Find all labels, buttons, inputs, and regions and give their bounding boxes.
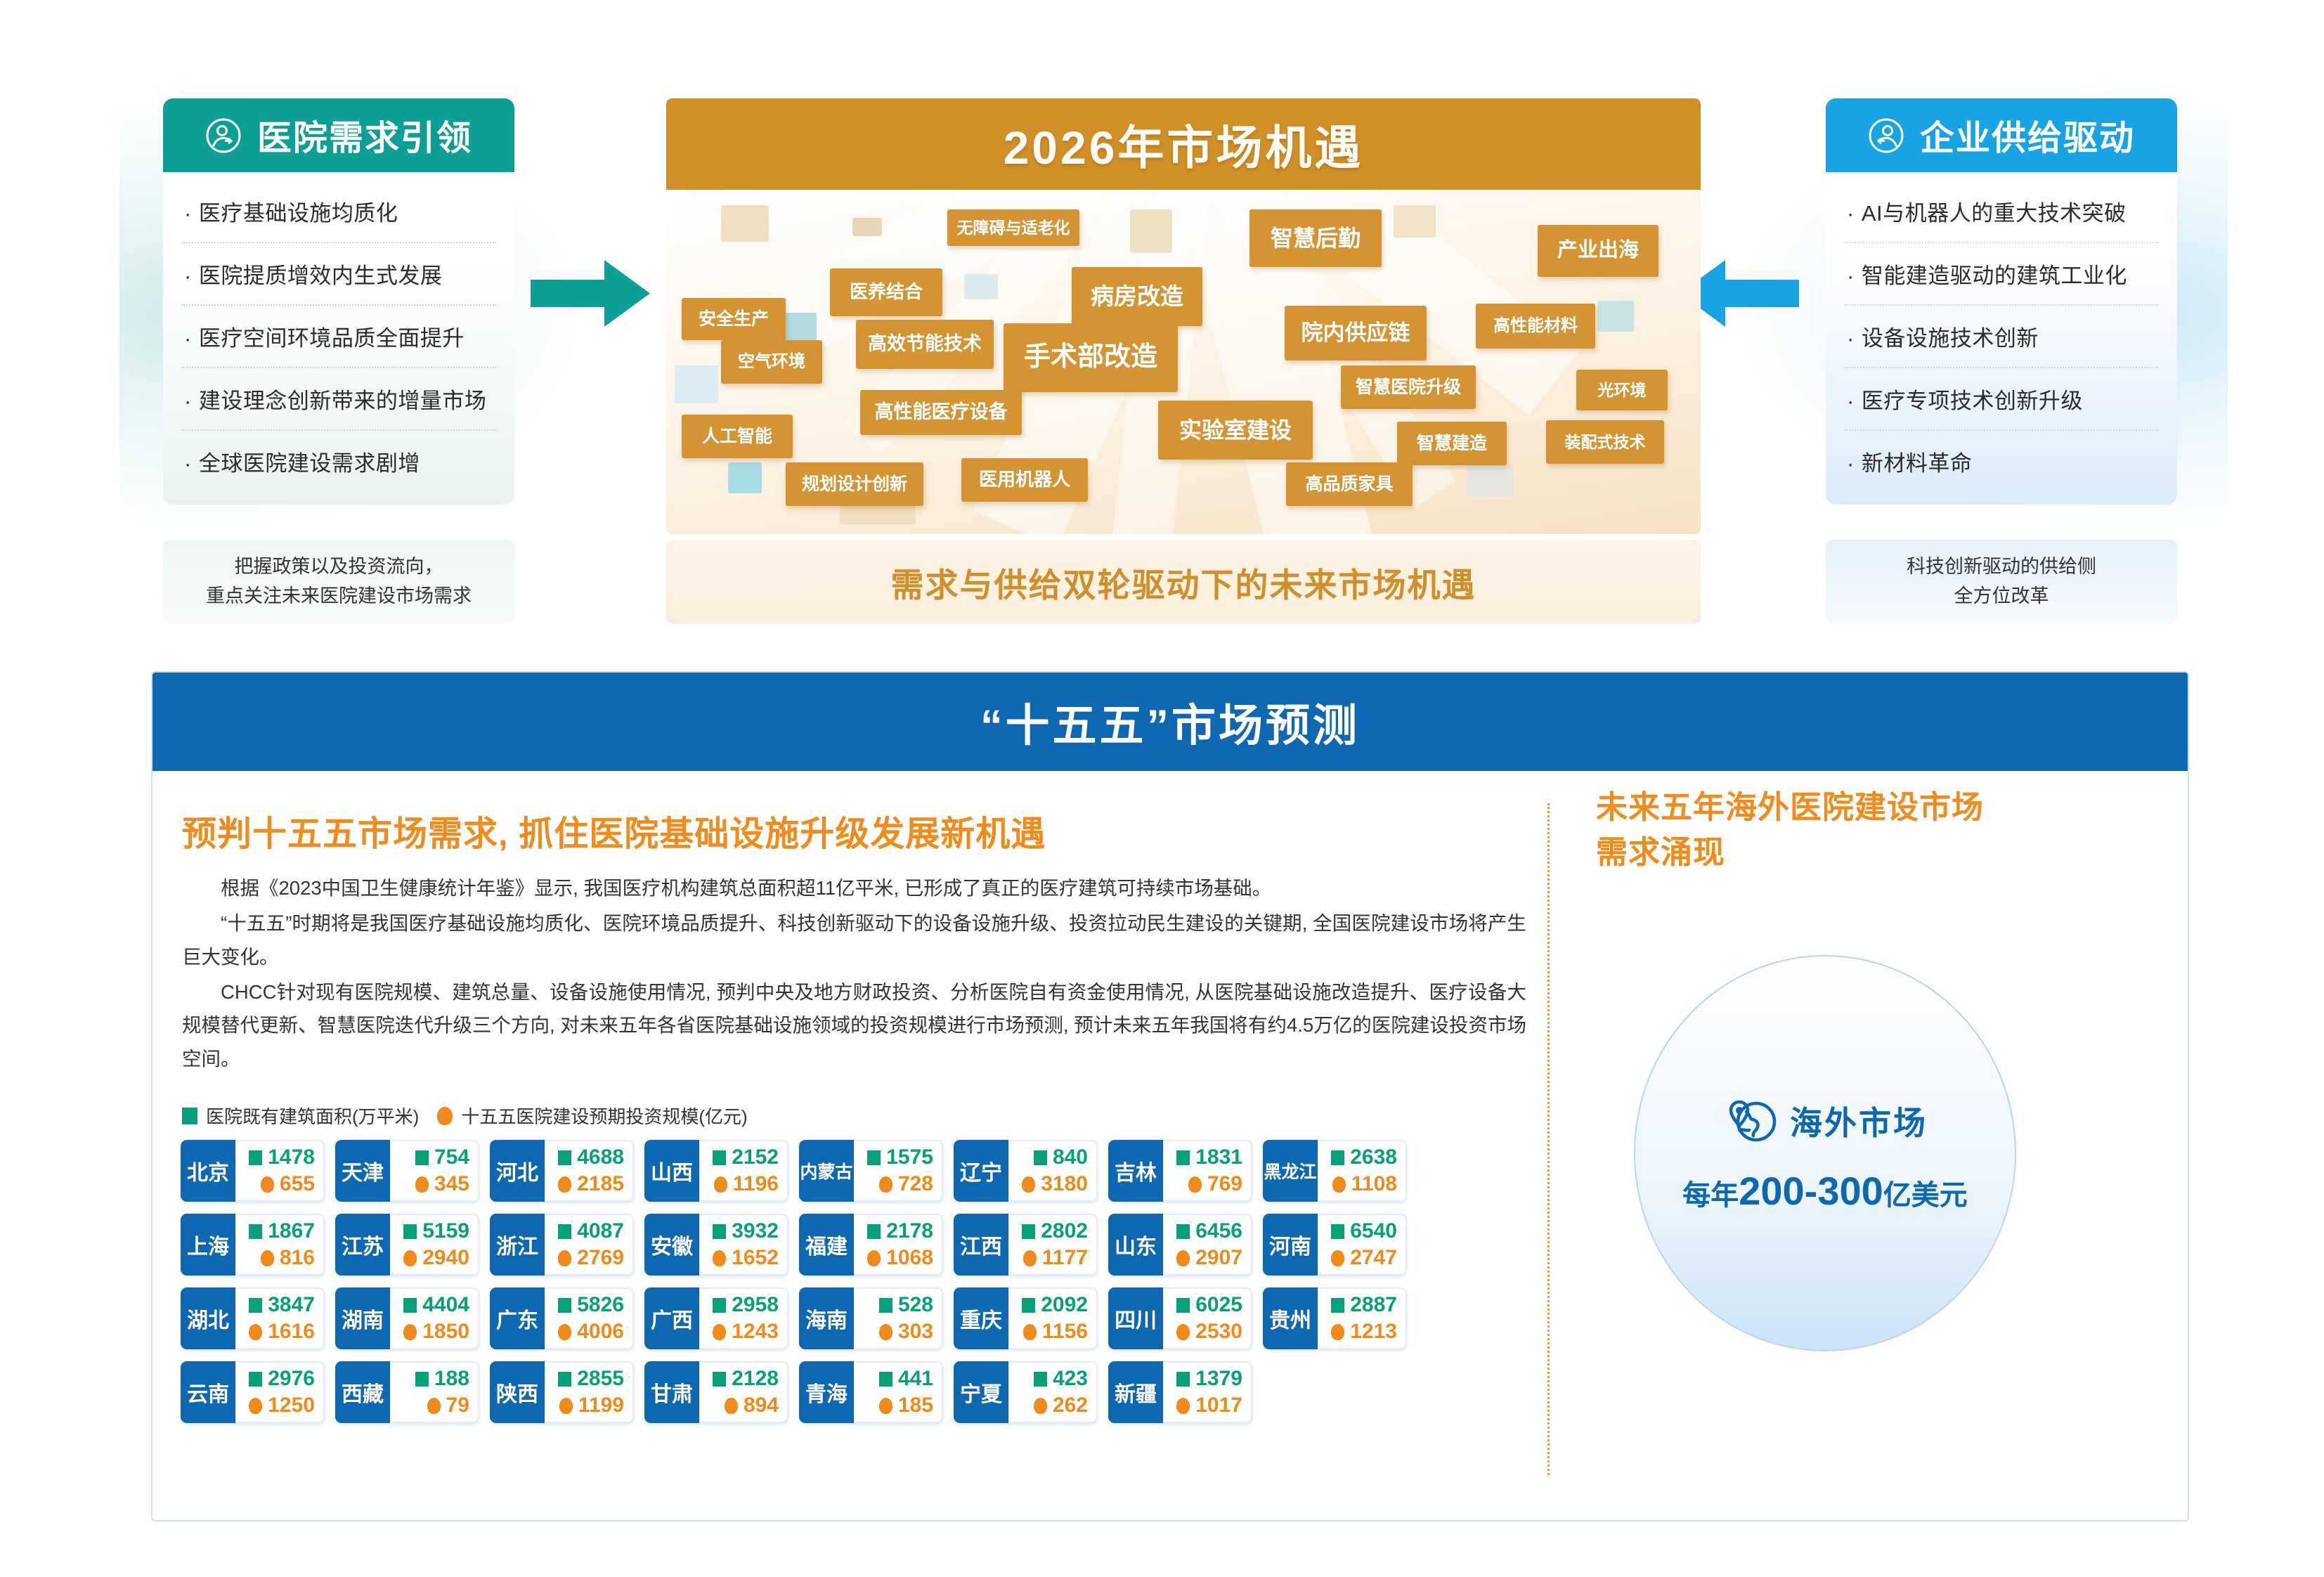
demand-item-3-label: 医疗空间环境品质全面提升 bbox=[199, 326, 465, 351]
square-marker-icon bbox=[713, 1298, 726, 1313]
supply-panel-list: ·AI与机器人的重大技术突破 ·智能建造驱动的建筑工业化 ·设备设施技术创新 ·… bbox=[1826, 172, 2177, 505]
pin-marker-icon bbox=[1034, 1398, 1047, 1414]
right-note-line1: 科技创新驱动的供给侧 bbox=[1907, 552, 2096, 582]
province-invest-value: 1068 bbox=[886, 1246, 933, 1270]
province-area-row: 188 bbox=[396, 1365, 469, 1392]
province-values: 28021177 bbox=[1008, 1214, 1098, 1276]
province-invest-value: 1177 bbox=[1042, 1246, 1088, 1270]
tag-安全生产: 安全生产 bbox=[682, 298, 786, 340]
tag-规划设计创新: 规划设计创新 bbox=[786, 462, 923, 506]
square-marker-icon bbox=[1034, 1372, 1047, 1387]
province-values: 441185 bbox=[854, 1361, 943, 1423]
province-invest-value: 2940 bbox=[422, 1246, 469, 1270]
square-marker-icon bbox=[1331, 1224, 1344, 1239]
tag-label: 安全生产 bbox=[699, 309, 769, 330]
province-area-value: 1867 bbox=[268, 1219, 315, 1243]
square-marker-icon bbox=[182, 1108, 197, 1124]
province-area-value: 2152 bbox=[732, 1146, 779, 1169]
overseas-title-line1: 未来五年海外医院建设市场 bbox=[1596, 785, 2188, 830]
pin-marker-icon bbox=[558, 1324, 571, 1340]
province-area-row: 2855 bbox=[550, 1365, 624, 1392]
tag-光环境: 光环境 bbox=[1576, 370, 1668, 410]
pin-marker-icon bbox=[1332, 1176, 1346, 1193]
tag-cloud: 安全生产 医养结合 无障碍与适老化 智慧后勤 产业出海 空气环境 高效节能技术 … bbox=[666, 190, 1701, 534]
top-section: 医院需求引领 ·医疗基础设施均质化 ·医院提质增效内生式发展 ·医疗空间环境品质… bbox=[0, 0, 2324, 632]
supply-item-3-label: 设备设施技术创新 bbox=[1862, 326, 2039, 351]
province-area-row: 5159 bbox=[396, 1218, 469, 1245]
province-area-row: 5826 bbox=[550, 1292, 624, 1318]
province-area-value: 4688 bbox=[577, 1146, 624, 1169]
province-card[interactable]: 云南29761250 bbox=[181, 1361, 325, 1423]
province-card[interactable]: 福建21781068 bbox=[799, 1214, 943, 1276]
province-invest-row: 262 bbox=[1014, 1392, 1088, 1419]
province-values: 21781068 bbox=[854, 1214, 943, 1276]
province-values: 1831769 bbox=[1163, 1140, 1252, 1202]
province-invest-value: 345 bbox=[434, 1172, 469, 1196]
province-card[interactable]: 重庆20921156 bbox=[954, 1287, 1098, 1349]
demand-item-2: ·医院提质增效内生式发展 bbox=[181, 243, 496, 306]
bullet-dot-icon: · bbox=[1847, 326, 1855, 351]
demand-item-3: ·医疗空间环境品质全面提升 bbox=[181, 306, 496, 368]
province-values: 18879 bbox=[390, 1361, 479, 1423]
bullet-dot-icon: · bbox=[1847, 264, 1855, 288]
demand-item-4-label: 建设理念创新带来的增量市场 bbox=[199, 389, 487, 413]
province-name: 青海 bbox=[799, 1361, 854, 1423]
square-marker-icon bbox=[1034, 1150, 1047, 1165]
province-area-row: 2976 bbox=[241, 1365, 315, 1392]
province-area-row: 2178 bbox=[859, 1218, 933, 1245]
tag-无障碍与适老化: 无障碍与适老化 bbox=[947, 209, 1079, 246]
province-card[interactable]: 江苏51592940 bbox=[335, 1214, 479, 1276]
tag-label: 高性能医疗设备 bbox=[875, 401, 1008, 423]
province-invest-row: 1017 bbox=[1169, 1392, 1242, 1419]
province-invest-value: 1156 bbox=[1042, 1320, 1088, 1344]
province-area-value: 2802 bbox=[1041, 1219, 1088, 1243]
square-marker-icon bbox=[249, 1224, 262, 1239]
province-card[interactable]: 宁夏423262 bbox=[954, 1361, 1098, 1423]
province-invest-value: 1108 bbox=[1351, 1172, 1397, 1196]
supply-panel: 企业供给驱动 ·AI与机器人的重大技术突破 ·智能建造驱动的建筑工业化 ·设备设… bbox=[1826, 98, 2177, 505]
province-values: 1478655 bbox=[235, 1140, 325, 1202]
tag-label: 院内供应链 bbox=[1301, 320, 1410, 346]
province-invest-value: 2530 bbox=[1195, 1320, 1242, 1344]
province-card[interactable]: 广西29581243 bbox=[644, 1287, 788, 1349]
supply-item-3: ·设备设施技术创新 bbox=[1844, 306, 2159, 368]
square-marker-icon bbox=[415, 1372, 429, 1387]
province-area-row: 1831 bbox=[1169, 1144, 1242, 1171]
tag-label: 高效节能技术 bbox=[868, 333, 982, 355]
bullet-dot-icon: · bbox=[184, 451, 192, 476]
province-invest-value: 2907 bbox=[1195, 1246, 1242, 1270]
supply-item-1: ·AI与机器人的重大技术突破 bbox=[1844, 181, 2159, 243]
province-card[interactable]: 青海441185 bbox=[799, 1361, 943, 1423]
pin-marker-icon bbox=[1023, 1250, 1037, 1266]
province-invest-value: 728 bbox=[898, 1172, 933, 1196]
province-values: 46882185 bbox=[545, 1140, 634, 1202]
overseas-circle: 海外市场 每年200-300亿美元 bbox=[1634, 955, 2016, 1351]
province-values: 29761250 bbox=[235, 1361, 325, 1423]
opportunity-panel-title: 2026年市场机遇 bbox=[1004, 110, 1364, 178]
pin-marker-icon bbox=[879, 1324, 892, 1340]
province-area-row: 6540 bbox=[1323, 1218, 1397, 1245]
province-area-row: 4087 bbox=[550, 1218, 624, 1245]
province-invest-row: 1213 bbox=[1323, 1318, 1397, 1345]
province-invest-row: 2530 bbox=[1169, 1318, 1242, 1345]
province-invest-row: 345 bbox=[396, 1171, 469, 1198]
pin-marker-icon bbox=[558, 1250, 571, 1266]
province-invest-value: 2185 bbox=[577, 1172, 624, 1196]
province-invest-row: 1199 bbox=[550, 1392, 624, 1419]
province-card[interactable]: 甘肃2128894 bbox=[644, 1361, 788, 1423]
pin-marker-icon bbox=[249, 1324, 262, 1340]
province-values: 528303 bbox=[854, 1287, 943, 1349]
province-area-value: 2976 bbox=[268, 1367, 315, 1391]
demand-panel-title: 医院需求引领 bbox=[257, 110, 472, 160]
province-invest-row: 1068 bbox=[859, 1245, 933, 1271]
province-card[interactable]: 天津754345 bbox=[335, 1140, 479, 1202]
province-area-row: 2128 bbox=[705, 1365, 779, 1392]
supply-panel-header: 企业供给驱动 bbox=[1826, 98, 2177, 172]
decor-chip bbox=[852, 218, 882, 236]
square-marker-icon bbox=[558, 1298, 571, 1313]
tag-label: 规划设计创新 bbox=[802, 474, 907, 495]
square-marker-icon bbox=[1022, 1298, 1035, 1313]
province-card[interactable]: 辽宁8403180 bbox=[954, 1140, 1098, 1202]
province-card[interactable]: 湖北38471616 bbox=[181, 1287, 325, 1349]
person-arrow-left-icon bbox=[1868, 117, 1904, 154]
pin-marker-icon bbox=[559, 1398, 573, 1414]
overseas-amount-prefix: 每年 bbox=[1682, 1180, 1739, 1211]
chart-legend: 医院既有建筑面积(万平米) 十五五医院建设预期投资规模(亿元) bbox=[182, 1103, 1547, 1129]
province-name: 内蒙古 bbox=[799, 1140, 854, 1202]
square-marker-icon bbox=[403, 1224, 417, 1239]
province-area-row: 3847 bbox=[241, 1292, 315, 1318]
province-invest-value: 262 bbox=[1053, 1394, 1088, 1417]
square-marker-icon bbox=[713, 1150, 726, 1165]
province-card[interactable]: 河南65402747 bbox=[1263, 1214, 1407, 1276]
province-values: 58264006 bbox=[545, 1287, 634, 1349]
province-card[interactable]: 吉林1831769 bbox=[1108, 1140, 1252, 1202]
globe-pin-icon bbox=[1722, 1093, 1777, 1148]
province-area-row: 1379 bbox=[1169, 1365, 1242, 1392]
province-name: 广西 bbox=[644, 1287, 699, 1349]
demand-panel: 医院需求引领 ·医疗基础设施均质化 ·医院提质增效内生式发展 ·医疗空间环境品质… bbox=[163, 98, 514, 505]
pin-marker-icon bbox=[725, 1398, 738, 1414]
province-values: 26381108 bbox=[1318, 1140, 1407, 1202]
decor-chip bbox=[1597, 301, 1634, 332]
province-card[interactable]: 新疆13791017 bbox=[1108, 1361, 1252, 1423]
pin-marker-icon bbox=[249, 1398, 262, 1414]
province-name: 山东 bbox=[1108, 1214, 1163, 1276]
infographic-root: 医院需求引领 ·医疗基础设施均质化 ·医院提质增效内生式发展 ·医疗空间环境品质… bbox=[0, 0, 2324, 1577]
tag-label: 病房改造 bbox=[1091, 283, 1183, 310]
province-invest-row: 4006 bbox=[550, 1318, 624, 1345]
pin-marker-icon bbox=[261, 1176, 274, 1193]
pin-marker-icon bbox=[437, 1107, 453, 1125]
legend-item-invest: 十五五医院建设预期投资规模(亿元) bbox=[437, 1103, 747, 1129]
province-area-row: 840 bbox=[1014, 1144, 1088, 1171]
province-name: 天津 bbox=[335, 1140, 390, 1202]
bullet-dot-icon: · bbox=[1847, 451, 1855, 476]
province-invest-value: 1017 bbox=[1195, 1394, 1242, 1417]
province-area-value: 2178 bbox=[886, 1219, 933, 1243]
demand-item-5-label: 全球医院建设需求剧增 bbox=[199, 451, 420, 476]
forecast-header: “十五五”市场预测 bbox=[152, 673, 2188, 771]
province-area-value: 754 bbox=[434, 1146, 469, 1169]
province-name: 新疆 bbox=[1108, 1361, 1163, 1423]
pin-marker-icon bbox=[403, 1250, 417, 1266]
province-area-value: 1478 bbox=[268, 1146, 315, 1169]
arrow-right-teal-icon bbox=[531, 260, 650, 327]
province-invest-row: 1196 bbox=[705, 1171, 779, 1198]
bullet-dot-icon: · bbox=[184, 389, 192, 413]
province-area-value: 2887 bbox=[1350, 1293, 1397, 1317]
square-marker-icon bbox=[1331, 1150, 1344, 1165]
supply-item-1-label: AI与机器人的重大技术突破 bbox=[1862, 201, 2127, 226]
decor-chip bbox=[1130, 209, 1172, 253]
overseas-amount-value: 200-300 bbox=[1739, 1169, 1883, 1213]
tag-label: 产业出海 bbox=[1557, 239, 1639, 262]
bullet-dot-icon: · bbox=[184, 264, 192, 288]
pin-marker-icon bbox=[1176, 1250, 1190, 1266]
province-area-row: 1867 bbox=[241, 1218, 315, 1245]
square-marker-icon bbox=[403, 1298, 417, 1313]
province-values: 65402747 bbox=[1318, 1214, 1407, 1276]
province-invest-value: 1616 bbox=[268, 1320, 315, 1344]
province-invest-row: 1850 bbox=[396, 1318, 469, 1345]
tag-手术部改造: 手术部改造 bbox=[1004, 323, 1178, 392]
tag-label: 医用机器人 bbox=[979, 469, 1070, 491]
province-values: 38471616 bbox=[235, 1287, 325, 1349]
province-invest-row: 79 bbox=[396, 1392, 469, 1419]
square-marker-icon bbox=[1176, 1150, 1190, 1165]
overseas-title-line2: 需求涌现 bbox=[1596, 830, 2188, 875]
tag-label: 高品质家具 bbox=[1305, 474, 1393, 495]
overseas-title: 未来五年海外医院建设市场 需求涌现 bbox=[1596, 785, 2188, 875]
province-name: 上海 bbox=[181, 1214, 235, 1276]
province-values: 423262 bbox=[1008, 1361, 1098, 1423]
province-grid: 北京1478655天津754345河北46882185山西21521196内蒙古… bbox=[181, 1140, 1488, 1423]
province-area-value: 5826 bbox=[577, 1293, 624, 1317]
province-card[interactable]: 内蒙古1575728 bbox=[799, 1140, 943, 1202]
pin-marker-icon bbox=[713, 1324, 726, 1340]
forecast-body: 预判十五五市场需求, 抓住医院基础设施升级发展新机遇 根据《2023中国卫生健康… bbox=[152, 771, 2188, 1520]
demand-item-1: ·医疗基础设施均质化 bbox=[181, 181, 496, 243]
demand-panel-header: 医院需求引领 bbox=[163, 98, 514, 172]
province-card[interactable]: 海南528303 bbox=[799, 1287, 943, 1349]
province-values: 13791017 bbox=[1163, 1361, 1252, 1423]
pin-marker-icon bbox=[1176, 1398, 1190, 1414]
square-marker-icon bbox=[1331, 1298, 1344, 1313]
square-marker-icon bbox=[1176, 1372, 1190, 1387]
tag-人工智能: 人工智能 bbox=[682, 415, 793, 458]
province-name: 山西 bbox=[644, 1140, 699, 1202]
overseas-amount-suffix: 亿美元 bbox=[1883, 1180, 1968, 1211]
province-name: 辽宁 bbox=[954, 1140, 1008, 1202]
supply-panel-title: 企业供给驱动 bbox=[1920, 110, 2135, 160]
province-invest-row: 1177 bbox=[1014, 1245, 1088, 1271]
province-name: 江西 bbox=[954, 1214, 1008, 1276]
province-values: 754345 bbox=[390, 1140, 479, 1202]
province-values: 60252530 bbox=[1163, 1287, 1252, 1349]
province-values: 44041850 bbox=[390, 1287, 479, 1349]
province-card[interactable]: 湖南44041850 bbox=[335, 1287, 479, 1349]
province-card[interactable]: 安徽39321652 bbox=[644, 1214, 788, 1276]
province-card[interactable]: 西藏18879 bbox=[335, 1361, 479, 1423]
tag-label: 实验室建设 bbox=[1179, 417, 1292, 443]
opportunity-panel-header: 2026年市场机遇 bbox=[666, 98, 1701, 190]
province-area-value: 188 bbox=[434, 1367, 469, 1391]
province-card[interactable]: 陕西28551199 bbox=[490, 1361, 634, 1423]
province-area-row: 2958 bbox=[705, 1292, 779, 1318]
square-marker-icon bbox=[558, 1150, 571, 1165]
province-area-value: 1575 bbox=[886, 1146, 933, 1169]
tag-label: 空气环境 bbox=[738, 352, 805, 372]
pin-marker-icon bbox=[261, 1250, 274, 1266]
tag-高性能医疗设备: 高性能医疗设备 bbox=[860, 390, 1022, 435]
province-invest-value: 303 bbox=[898, 1320, 933, 1344]
province-card[interactable]: 浙江40872769 bbox=[490, 1214, 634, 1276]
legend-item-area-label: 医院既有建筑面积(万平米) bbox=[206, 1103, 419, 1129]
province-invest-value: 1196 bbox=[733, 1172, 779, 1196]
left-note-line1: 把握政策以及投资流向， bbox=[206, 552, 472, 582]
tag-病房改造: 病房改造 bbox=[1072, 267, 1202, 326]
province-invest-row: 1243 bbox=[705, 1318, 779, 1345]
province-area-value: 6025 bbox=[1195, 1293, 1242, 1317]
supply-item-5: ·新材料革命 bbox=[1844, 431, 2159, 492]
pin-marker-icon bbox=[1331, 1250, 1344, 1266]
province-invest-row: 2907 bbox=[1169, 1245, 1242, 1271]
province-values: 2128894 bbox=[699, 1361, 788, 1423]
province-area-row: 3932 bbox=[705, 1218, 779, 1245]
tag-label: 智慧建造 bbox=[1417, 434, 1487, 454]
tag-label: 光环境 bbox=[1598, 381, 1647, 399]
province-card[interactable]: 江西28021177 bbox=[954, 1214, 1098, 1276]
province-area-value: 5159 bbox=[422, 1219, 469, 1243]
square-marker-icon bbox=[1176, 1224, 1190, 1239]
province-values: 29581243 bbox=[699, 1287, 788, 1349]
forecast-paragraph-1: 根据《2023中国卫生健康统计年鉴》显示, 我国医疗机构建筑总面积超11亿平米,… bbox=[182, 871, 1526, 905]
tag-医用机器人: 医用机器人 bbox=[961, 458, 1088, 502]
demand-item-4: ·建设理念创新带来的增量市场 bbox=[181, 368, 496, 431]
legend-item-invest-label: 十五五医院建设预期投资规模(亿元) bbox=[461, 1103, 747, 1129]
demand-item-5: ·全球医院建设需求剧增 bbox=[181, 431, 496, 492]
province-area-value: 4087 bbox=[577, 1219, 624, 1243]
province-invest-value: 1213 bbox=[1350, 1320, 1397, 1344]
square-marker-icon bbox=[1176, 1298, 1190, 1313]
province-values: 51592940 bbox=[390, 1214, 479, 1276]
left-note-line2: 重点关注未来医院建设市场需求 bbox=[206, 582, 472, 611]
supply-item-2: ·智能建造驱动的建筑工业化 bbox=[1844, 243, 2159, 306]
province-card[interactable]: 山东64562907 bbox=[1108, 1214, 1252, 1276]
tag-产业出海: 产业出海 bbox=[1538, 225, 1658, 277]
province-card[interactable]: 黑龙江26381108 bbox=[1263, 1140, 1407, 1202]
province-invest-row: 769 bbox=[1169, 1171, 1242, 1198]
province-invest-row: 1616 bbox=[241, 1318, 315, 1345]
pin-marker-icon bbox=[558, 1176, 571, 1193]
tag-智慧后勤: 智慧后勤 bbox=[1249, 209, 1382, 267]
province-invest-value: 894 bbox=[744, 1394, 779, 1417]
forecast-header-title: “十五五”市场预测 bbox=[980, 690, 1360, 754]
decor-chip bbox=[675, 365, 718, 403]
province-values: 39321652 bbox=[699, 1214, 788, 1276]
tag-label: 无障碍与适老化 bbox=[957, 219, 1070, 237]
forecast-left-column: 预判十五五市场需求, 抓住医院基础设施升级发展新机遇 根据《2023中国卫生健康… bbox=[152, 771, 1547, 1520]
tag-高性能材料: 高性能材料 bbox=[1476, 304, 1595, 349]
province-name: 吉林 bbox=[1108, 1140, 1163, 1202]
province-card[interactable]: 贵州28871213 bbox=[1263, 1287, 1407, 1349]
province-invest-value: 655 bbox=[280, 1172, 315, 1196]
bullet-dot-icon: · bbox=[1847, 389, 1855, 413]
tag-label: 手术部改造 bbox=[1024, 342, 1157, 373]
province-invest-row: 2940 bbox=[396, 1245, 469, 1271]
province-invest-row: 728 bbox=[859, 1171, 933, 1198]
square-marker-icon bbox=[713, 1224, 726, 1239]
demand-item-1-label: 医疗基础设施均质化 bbox=[199, 201, 398, 226]
pin-marker-icon bbox=[714, 1176, 727, 1193]
province-area-value: 6540 bbox=[1350, 1219, 1397, 1243]
province-area-value: 840 bbox=[1053, 1146, 1088, 1169]
province-area-row: 441 bbox=[859, 1365, 933, 1392]
province-area-value: 441 bbox=[898, 1367, 933, 1391]
center-note-text: 需求与供给双轮驱动下的未来市场机遇 bbox=[891, 558, 1476, 606]
province-name: 四川 bbox=[1108, 1287, 1163, 1349]
province-area-row: 754 bbox=[396, 1144, 469, 1171]
tag-空气环境: 空气环境 bbox=[721, 340, 822, 384]
decor-chip bbox=[1467, 464, 1514, 496]
province-name: 海南 bbox=[799, 1287, 854, 1349]
province-area-value: 2638 bbox=[1350, 1146, 1397, 1169]
demand-panel-list: ·医疗基础设施均质化 ·医院提质增效内生式发展 ·医疗空间环境品质全面提升 ·建… bbox=[163, 172, 514, 505]
demand-item-2-label: 医院提质增效内生式发展 bbox=[199, 264, 443, 288]
province-invest-value: 1243 bbox=[732, 1320, 779, 1344]
pin-marker-icon bbox=[879, 1398, 892, 1414]
right-note: 科技创新驱动的供给侧 全方位改革 bbox=[1826, 540, 2177, 624]
province-invest-row: 2185 bbox=[550, 1171, 624, 1198]
person-arrow-right-icon bbox=[205, 117, 242, 154]
province-card[interactable]: 上海1867816 bbox=[181, 1214, 325, 1276]
overseas-badge-label: 海外市场 bbox=[1790, 1098, 1928, 1144]
province-name: 福建 bbox=[799, 1214, 854, 1276]
overseas-badge: 海外市场 bbox=[1722, 1093, 1928, 1148]
overseas-amount: 每年200-300亿美元 bbox=[1682, 1168, 1968, 1214]
square-marker-icon bbox=[1022, 1224, 1035, 1239]
province-values: 64562907 bbox=[1163, 1214, 1252, 1276]
province-area-row: 4404 bbox=[396, 1292, 469, 1318]
tag-实验室建设: 实验室建设 bbox=[1158, 401, 1313, 460]
province-card[interactable]: 广东58264006 bbox=[490, 1287, 634, 1349]
square-marker-icon bbox=[879, 1298, 892, 1313]
province-invest-row: 303 bbox=[859, 1318, 933, 1345]
province-area-row: 2638 bbox=[1323, 1144, 1397, 1171]
province-area-row: 2887 bbox=[1323, 1292, 1397, 1318]
province-card[interactable]: 山西21521196 bbox=[644, 1140, 788, 1202]
province-area-value: 1831 bbox=[1195, 1146, 1242, 1169]
province-name: 宁夏 bbox=[954, 1361, 1008, 1423]
tag-高品质家具: 高品质家具 bbox=[1286, 462, 1413, 506]
province-values: 20921156 bbox=[1008, 1287, 1098, 1349]
province-card[interactable]: 河北46882185 bbox=[490, 1140, 634, 1202]
supply-item-2-label: 智能建造驱动的建筑工业化 bbox=[1862, 264, 2127, 288]
tag-label: 装配式技术 bbox=[1565, 433, 1646, 451]
province-card[interactable]: 四川60252530 bbox=[1108, 1287, 1252, 1349]
province-invest-row: 2769 bbox=[550, 1245, 624, 1271]
bullet-dot-icon: · bbox=[184, 326, 192, 351]
province-card[interactable]: 北京1478655 bbox=[181, 1140, 325, 1202]
forecast-section-title: 预判十五五市场需求, 抓住医院基础设施升级发展新机遇 bbox=[182, 806, 1547, 856]
province-values: 1867816 bbox=[235, 1214, 325, 1276]
province-invest-value: 2747 bbox=[1350, 1246, 1397, 1270]
